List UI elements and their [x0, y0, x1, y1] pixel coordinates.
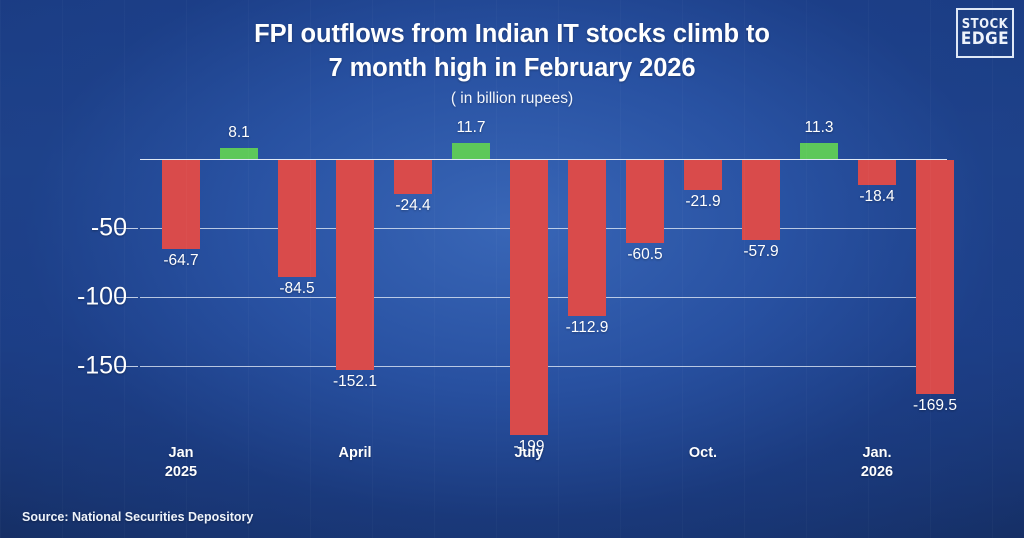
- bar-value-label-2: -84.5: [252, 280, 342, 298]
- bar-value-label-11: 11.3: [774, 119, 864, 137]
- bar-value-label-0: -64.7: [136, 252, 226, 270]
- bar-value-label-7: -112.9: [542, 319, 632, 337]
- chart-subtitle: ( in billion rupees): [0, 90, 1024, 108]
- bar-3[interactable]: [336, 160, 374, 370]
- bar-6[interactable]: [510, 160, 548, 435]
- bar-1[interactable]: [220, 148, 258, 159]
- bar-value-label-8: -60.5: [600, 246, 690, 264]
- chart-title-line-2: 7 month high in February 2026: [0, 52, 1024, 86]
- x-axis-label-3: April: [310, 444, 400, 463]
- bar-11[interactable]: [800, 143, 838, 159]
- bar-value-label-3: -152.1: [310, 373, 400, 391]
- bar-0[interactable]: [162, 160, 200, 249]
- bar-12[interactable]: [858, 160, 896, 185]
- bar-value-label-10: -57.9: [716, 243, 806, 261]
- bar-5[interactable]: [452, 143, 490, 159]
- x-axis-label-0: Jan 2025: [136, 444, 226, 481]
- bar-2[interactable]: [278, 160, 316, 277]
- bar-13[interactable]: [916, 160, 954, 394]
- y-axis-tick-label: -100: [77, 283, 127, 312]
- x-axis-label-12: Jan. 2026: [832, 444, 922, 481]
- bar-value-label-4: -24.4: [368, 197, 458, 215]
- chart-canvas: STOCK EDGE FPI outflows from Indian IT s…: [0, 0, 1024, 538]
- bar-10[interactable]: [742, 160, 780, 240]
- x-axis-label-9: Oct.: [658, 444, 748, 463]
- bar-value-label-9: -21.9: [658, 193, 748, 211]
- x-axis-label-6: July: [484, 444, 574, 463]
- bar-4[interactable]: [394, 160, 432, 194]
- y-axis-tick-label: -50: [91, 214, 127, 243]
- bar-value-label-13: -169.5: [890, 397, 980, 415]
- bar-value-label-12: -18.4: [832, 188, 922, 206]
- chart-title-line-1: FPI outflows from Indian IT stocks climb…: [0, 18, 1024, 52]
- bar-7[interactable]: [568, 160, 606, 316]
- y-axis-tick-label: -150: [77, 352, 127, 381]
- bar-value-label-5: 11.7: [426, 119, 516, 137]
- source-note: Source: National Securities Depository: [22, 510, 253, 524]
- chart-title: FPI outflows from Indian IT stocks climb…: [0, 18, 1024, 85]
- bar-9[interactable]: [684, 160, 722, 190]
- bar-value-label-1: 8.1: [194, 124, 284, 142]
